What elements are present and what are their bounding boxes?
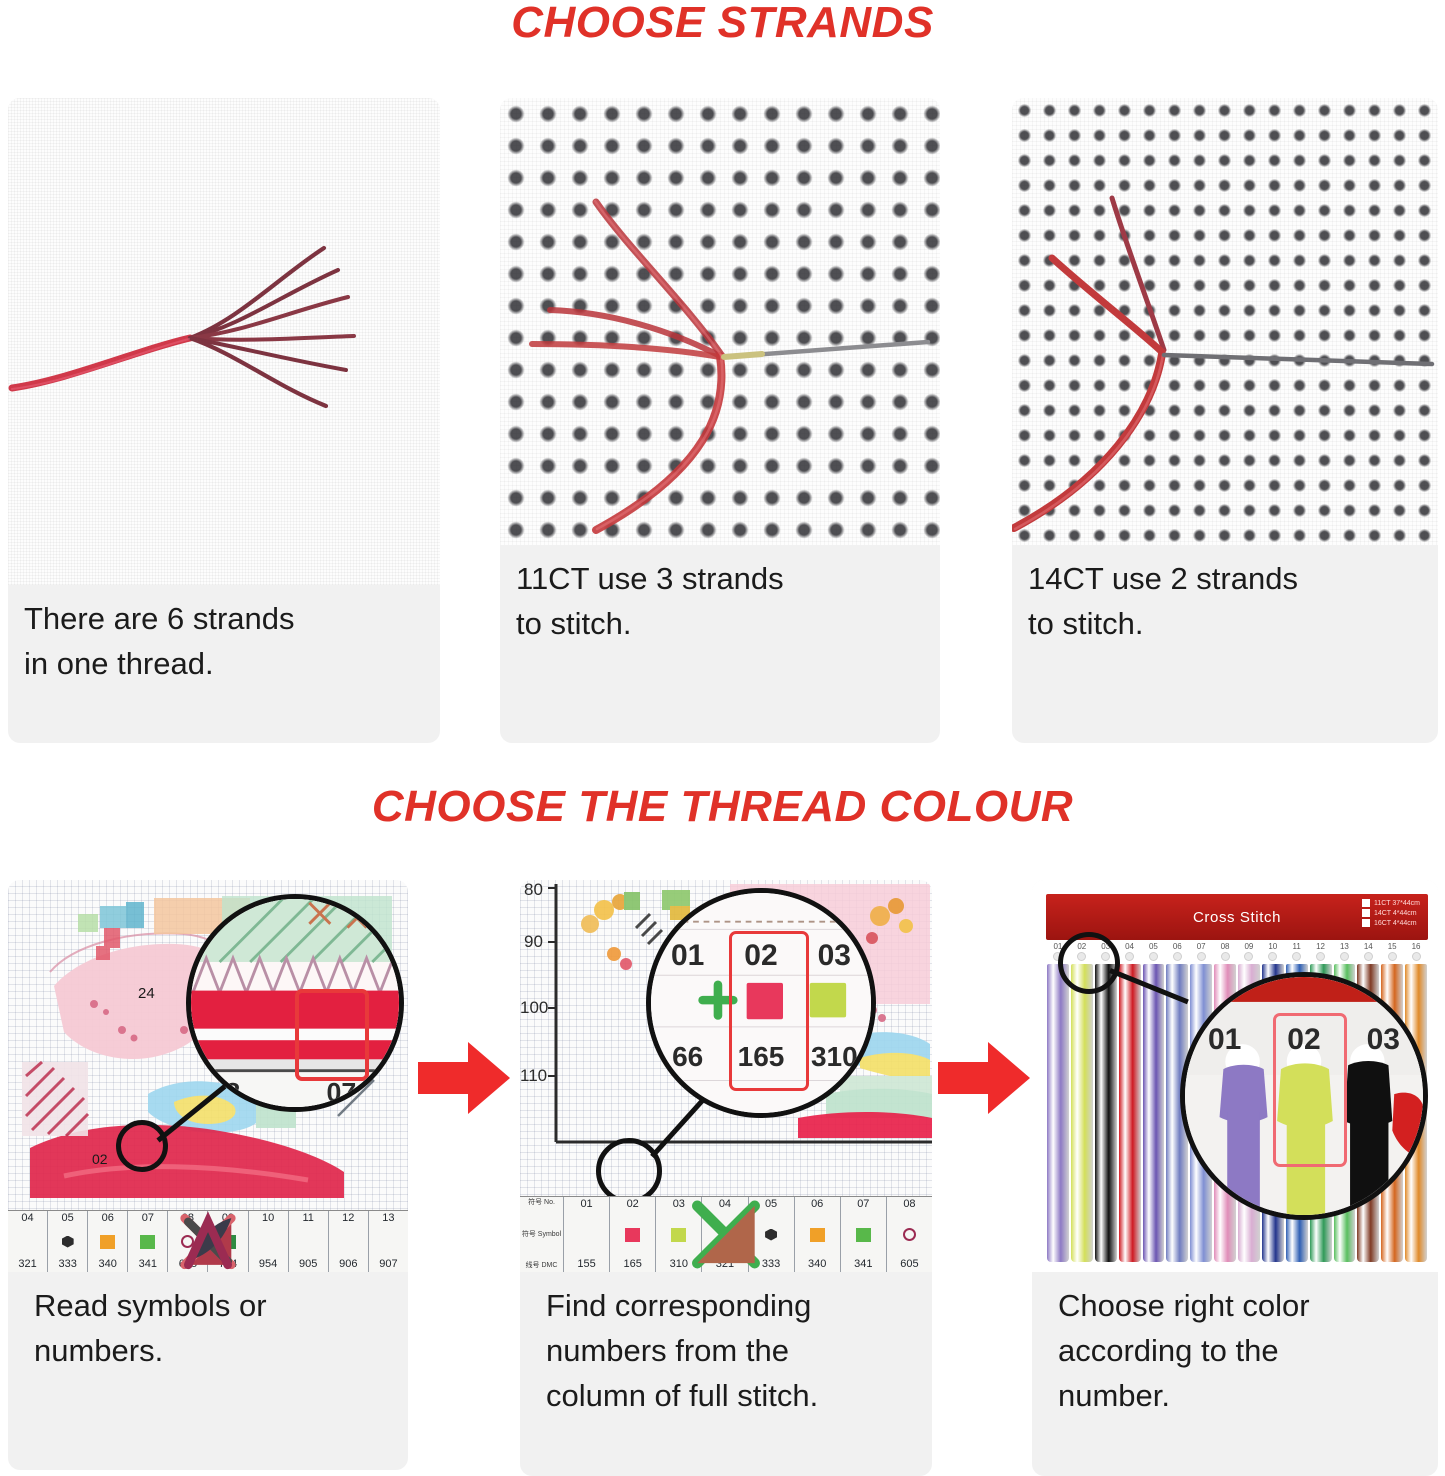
peg-slot: 15: [1380, 942, 1404, 964]
svg-text:02: 02: [92, 1151, 108, 1167]
svg-text:8: 8: [225, 1077, 240, 1107]
peg-hole: [1125, 952, 1134, 961]
six-strands-illustration: [8, 98, 440, 585]
panel-read-symbols: 24 02 07: [8, 880, 408, 1470]
y-axis-label-110: 110: [520, 1066, 547, 1086]
checkbox-icon[interactable]: [1362, 919, 1370, 927]
peg-slot: 05: [1142, 942, 1166, 964]
peg-hole: [1292, 952, 1301, 961]
legend-cell: 13907: [369, 1211, 408, 1272]
peg-number: 04: [1118, 942, 1142, 951]
y-axis-label-100: 100: [520, 998, 548, 1018]
card-size-options: 11CT 37*44cm14CT 4*44cm16CT 4*44cm: [1362, 899, 1420, 929]
photo-thread-organizer: Cross Stitch 11CT 37*44cm14CT 4*44cm16CT…: [1032, 880, 1438, 1272]
peg-number: 08: [1213, 942, 1237, 951]
peg-number: 10: [1261, 942, 1285, 951]
magnifier-highlight-box: [295, 989, 369, 1081]
svg-text:07: 07: [326, 1077, 356, 1107]
peg-slot: 16: [1404, 942, 1428, 964]
svg-text:24: 24: [138, 985, 155, 1002]
caption-line: numbers from the: [546, 1329, 916, 1374]
three-strands-needle-illustration: [500, 98, 940, 545]
peg-number: 07: [1189, 942, 1213, 951]
peg-slot: 08: [1213, 942, 1237, 964]
panel-14ct-two-strands: 14CT use 2 strands to stitch.: [1012, 98, 1438, 743]
caption-line: Find corresponding: [546, 1284, 916, 1329]
caption-line: according to the: [1058, 1329, 1422, 1374]
peg-hole: [1149, 952, 1158, 961]
caption-line: numbers.: [34, 1329, 392, 1374]
photo-cross-stitch-chart: 24 02 07: [8, 880, 408, 1272]
caption-line: Choose right color: [1058, 1284, 1422, 1329]
peg-slot: 11: [1285, 942, 1309, 964]
peg-hole: [1364, 952, 1373, 961]
caption-six-strands: There are 6 strands in one thread.: [8, 585, 440, 701]
peg-number: 09: [1237, 942, 1261, 951]
panel-six-strands: There are 6 strands in one thread.: [8, 98, 440, 743]
two-strands-needle-illustration: [1012, 98, 1438, 545]
magnifier-number: 03: [818, 939, 851, 972]
checkbox-icon[interactable]: [1362, 899, 1370, 907]
floss-skein[interactable]: [1047, 964, 1069, 1262]
magnifier-number: 01: [1208, 1023, 1241, 1056]
magnifier-highlight-box: [1273, 1013, 1347, 1167]
caption-line: to stitch.: [516, 602, 924, 647]
caption-line: in one thread.: [24, 642, 424, 687]
caption-find-numbers: Find corresponding numbers from the colu…: [520, 1272, 932, 1433]
card-size-option[interactable]: 11CT 37*44cm: [1362, 899, 1420, 907]
photo-chart-with-axis: 80 90 100 110: [520, 880, 932, 1272]
peg-hole: [1412, 952, 1421, 961]
peg-hole: [1268, 952, 1277, 961]
peg-number: 15: [1380, 942, 1404, 951]
floss-skein[interactable]: [1095, 964, 1117, 1262]
peg-hole: [1221, 952, 1230, 961]
panel-11ct-three-strands: 11CT use 3 strands to stitch.: [500, 98, 940, 743]
y-axis-label-90: 90: [524, 932, 543, 952]
magnifier-code: 310: [811, 1041, 858, 1072]
arrow-right-icon: [418, 1040, 510, 1116]
magnifier-target-circle: [1058, 932, 1120, 994]
caption-11ct: 11CT use 3 strands to stitch.: [500, 545, 940, 661]
photo-six-strands: [8, 98, 440, 585]
floss-skein[interactable]: [1119, 964, 1141, 1262]
peg-hole: [1173, 952, 1182, 961]
caption-line: Read symbols or: [34, 1284, 392, 1329]
y-axis-label-80: 80: [524, 880, 543, 900]
triangle-glyph: [520, 1197, 932, 1272]
panel-choose-color: Cross Stitch 11CT 37*44cm14CT 4*44cm16CT…: [1032, 880, 1438, 1476]
caption-line: to stitch.: [1028, 602, 1422, 647]
section-heading-choose-strands: CHOOSE STRANDS: [0, 0, 1445, 48]
card-size-option[interactable]: 14CT 4*44cm: [1362, 909, 1420, 917]
caption-choose-color: Choose right color according to the numb…: [1032, 1272, 1438, 1433]
caption-line: There are 6 strands: [24, 597, 424, 642]
photo-11ct-stitching: [500, 98, 940, 545]
peg-number: 11: [1285, 942, 1309, 951]
card-size-option[interactable]: 16CT 4*44cm: [1362, 919, 1420, 927]
arrow-right-icon: [938, 1040, 1030, 1116]
peg-slot: 12: [1309, 942, 1333, 964]
chart-legend-strip: 符号 No.符号 Symbol线号 DMC0115502165033100432…: [520, 1196, 932, 1272]
peg-slot: 04: [1118, 942, 1142, 964]
peg-slot: 14: [1356, 942, 1380, 964]
photo-14ct-stitching: [1012, 98, 1438, 545]
infographic-page: CHOOSE STRANDS There are 6 strands in o: [0, 0, 1445, 1476]
peg-hole: [1197, 952, 1206, 961]
caption-line: 14CT use 2 strands: [1028, 557, 1422, 602]
caret-glyph: [8, 1211, 408, 1272]
magnifier-target-circle: [596, 1138, 662, 1204]
peg-hole: [1244, 952, 1253, 961]
magnifier-target-circle: [116, 1120, 168, 1172]
peg-number: 16: [1404, 942, 1428, 951]
caption-line: number.: [1058, 1374, 1422, 1419]
floss-skein[interactable]: [1071, 964, 1093, 1262]
peg-number: 13: [1333, 942, 1357, 951]
caption-line: 11CT use 3 strands: [516, 557, 924, 602]
peg-number: 14: [1356, 942, 1380, 951]
caption-14ct: 14CT use 2 strands to stitch.: [1012, 545, 1438, 661]
card-size-label: 16CT 4*44cm: [1374, 920, 1417, 927]
peg-number: 05: [1142, 942, 1166, 951]
caption-read-symbols: Read symbols or numbers.: [8, 1272, 408, 1388]
peg-slot: 07: [1189, 942, 1213, 964]
magnifier-lens-skeins: 01 02 03: [1180, 972, 1428, 1220]
magnifier-number: 01: [671, 939, 704, 972]
card-header-banner: Cross Stitch 11CT 37*44cm14CT 4*44cm16CT…: [1046, 894, 1428, 940]
peg-slot: 09: [1237, 942, 1261, 964]
legend-cell: 04321: [702, 1197, 748, 1272]
peg-slot: 06: [1165, 942, 1189, 964]
card-size-label: 14CT 4*44cm: [1374, 910, 1417, 917]
peg-hole: [1388, 952, 1397, 961]
peg-hole: [1316, 952, 1325, 961]
caption-line: column of full stitch.: [546, 1374, 916, 1419]
needle-eye: [724, 354, 762, 357]
peg-number: 06: [1165, 942, 1189, 951]
needle: [1164, 355, 1432, 364]
floss-skein[interactable]: [1143, 964, 1165, 1262]
card-title: Cross Stitch: [1193, 909, 1281, 926]
magnifier-code: 66: [672, 1041, 703, 1072]
panel-find-numbers: 80 90 100 110: [520, 880, 932, 1476]
chart-legend-strip: 0432105333063400734108605097941095411905…: [8, 1210, 408, 1272]
peg-number: 12: [1309, 942, 1333, 951]
peg-slot: 13: [1333, 942, 1357, 964]
peg-hole: [1340, 952, 1349, 961]
magnifier-highlight-box: [729, 931, 809, 1091]
magnifier-lens-numbers: 01 02 03 66 165 310: [646, 888, 876, 1118]
magnifier-number: 03: [1367, 1023, 1400, 1056]
checkbox-icon[interactable]: [1362, 909, 1370, 917]
card-size-label: 11CT 37*44cm: [1374, 900, 1420, 907]
magnifier-lens-symbols: 8 07: [186, 894, 404, 1112]
section-heading-choose-thread-colour: CHOOSE THE THREAD COLOUR: [0, 782, 1445, 832]
peg-slot: 10: [1261, 942, 1285, 964]
